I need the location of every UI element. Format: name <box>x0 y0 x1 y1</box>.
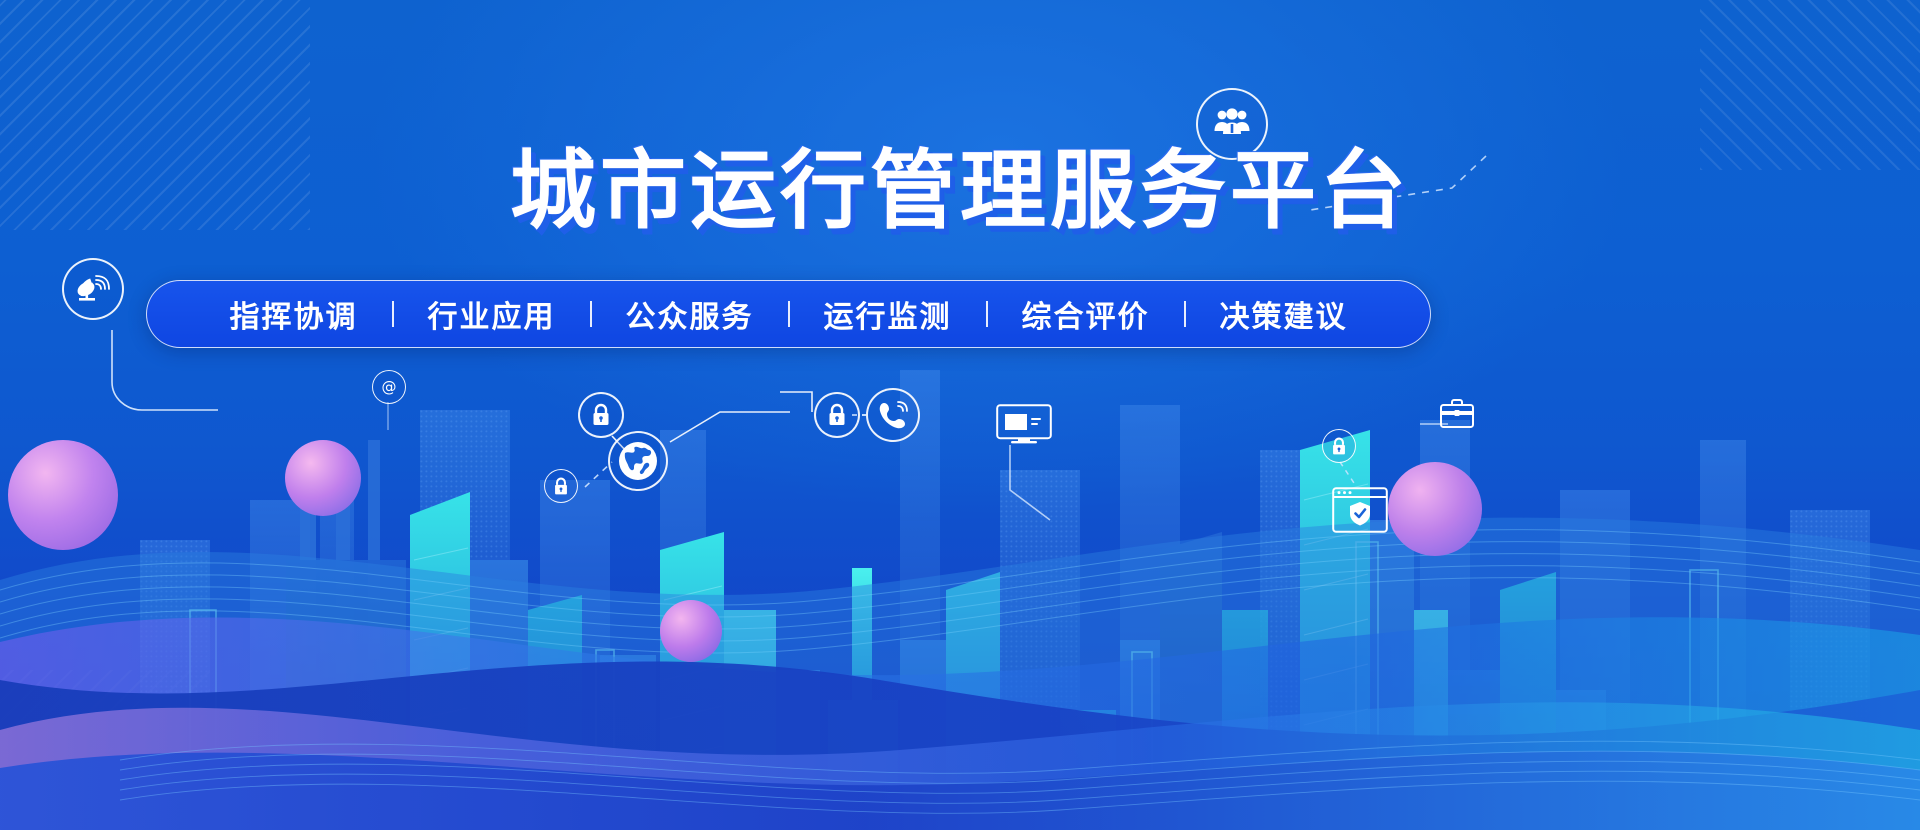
nav-item-4[interactable]: 综合评价 <box>992 292 1180 336</box>
lock-glyph <box>590 403 612 427</box>
banner-root: @ <box>0 0 1920 830</box>
briefcase-icon[interactable] <box>1440 398 1474 433</box>
nav-separator-3 <box>986 301 988 327</box>
globe-glyph <box>616 439 660 483</box>
people-group-glyph <box>1212 107 1252 141</box>
shield-window-icon[interactable] <box>1332 487 1388 538</box>
hatch-pattern-top-right <box>1700 0 1920 170</box>
nav-separator-0 <box>392 301 394 327</box>
nav-item-0[interactable]: 指挥协调 <box>200 292 388 336</box>
nav-item-1[interactable]: 行业应用 <box>398 292 586 336</box>
lock-glyph-small <box>552 477 570 496</box>
svg-text:@: @ <box>382 378 397 396</box>
briefcase-glyph <box>1440 398 1474 428</box>
page-title-wrap: 城市运行管理服务平台 <box>0 146 1920 236</box>
nav-item-3[interactable]: 运行监测 <box>794 292 982 336</box>
lock-glyph-right <box>1330 437 1348 456</box>
monitor-glyph <box>996 404 1052 444</box>
nav-items-container: 指挥协调 行业应用 公众服务 运行监测 综合评价 决策建议 <box>200 292 1378 336</box>
monitor-icon[interactable] <box>996 404 1052 449</box>
satellite-dish-glyph <box>75 272 111 306</box>
page-title: 城市运行管理服务平台 <box>510 146 1410 236</box>
wave-decoration <box>0 430 1920 830</box>
shield-window-glyph <box>1332 487 1388 533</box>
at-glyph: @ <box>379 377 399 397</box>
email-at-icon[interactable]: @ <box>372 370 406 404</box>
lock-icon-right[interactable] <box>1322 429 1356 463</box>
nav-item-2[interactable]: 公众服务 <box>596 292 784 336</box>
lock-icon-tertiary[interactable] <box>814 392 860 438</box>
nav-item-5[interactable]: 决策建议 <box>1190 292 1378 336</box>
nav-separator-2 <box>788 301 790 327</box>
nav-separator-4 <box>1184 301 1186 327</box>
satellite-dish-icon[interactable] <box>62 258 124 320</box>
phone-glyph <box>876 398 910 432</box>
primary-nav-bar[interactable]: 指挥协调 行业应用 公众服务 运行监测 综合评价 决策建议 <box>146 280 1431 348</box>
globe-icon[interactable] <box>608 431 668 491</box>
lock-icon[interactable] <box>578 392 624 438</box>
lock-glyph-tertiary <box>826 403 848 427</box>
lock-icon-secondary[interactable] <box>544 469 578 503</box>
phone-ring-icon[interactable] <box>866 388 920 442</box>
nav-separator-1 <box>590 301 592 327</box>
